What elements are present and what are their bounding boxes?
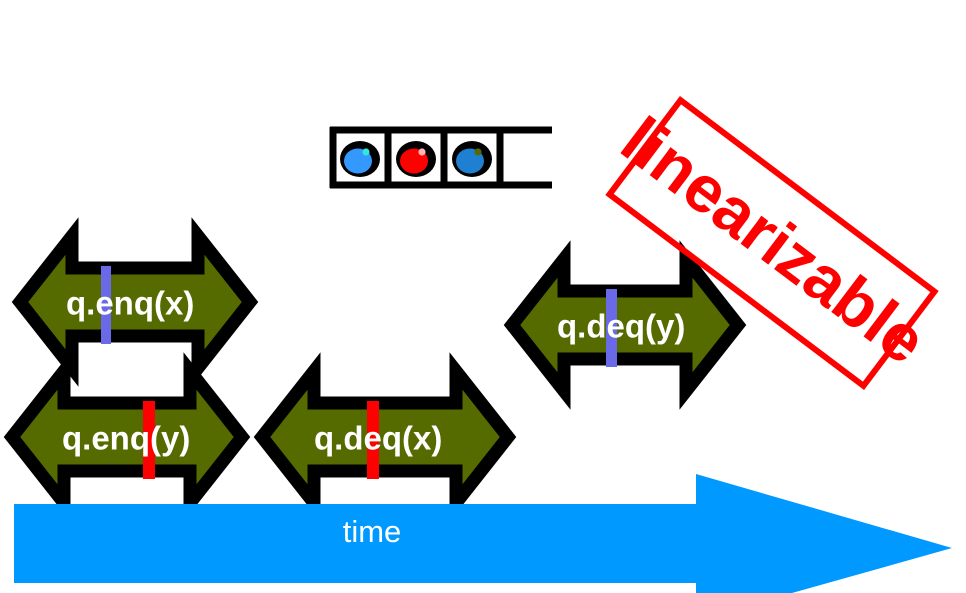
operation-label: q.enq(x)	[66, 285, 194, 322]
diagram-svg: q.enq(x) q.enq(y) q.deq(x) q.deq(y) time	[0, 0, 966, 593]
operation-label: q.deq(x)	[314, 420, 442, 457]
queue-cell-1	[396, 141, 436, 177]
operation-deq-x[interactable]: q.deq(x)	[262, 371, 508, 503]
operation-label: q.deq(y)	[557, 308, 685, 345]
operation-enq-x[interactable]: q.enq(x)	[20, 236, 250, 368]
time-axis-label: time	[343, 514, 402, 549]
ball-highlight-1	[418, 148, 425, 155]
ball-highlight-0	[362, 148, 369, 155]
ball-highlight-2	[474, 148, 481, 155]
operation-label: q.enq(y)	[62, 420, 190, 457]
operation-enq-y[interactable]: q.enq(y)	[12, 371, 242, 503]
time-axis-arrow: time	[14, 474, 952, 593]
queue-cell-2	[452, 141, 492, 177]
time-arrow-shape	[14, 474, 952, 593]
queue-widget	[330, 127, 552, 188]
operation-deq-y[interactable]: q.deq(y)	[512, 259, 738, 391]
diagram-canvas: q.enq(x) q.enq(y) q.deq(x) q.deq(y) time	[0, 0, 966, 593]
queue-cell-0	[340, 141, 380, 177]
